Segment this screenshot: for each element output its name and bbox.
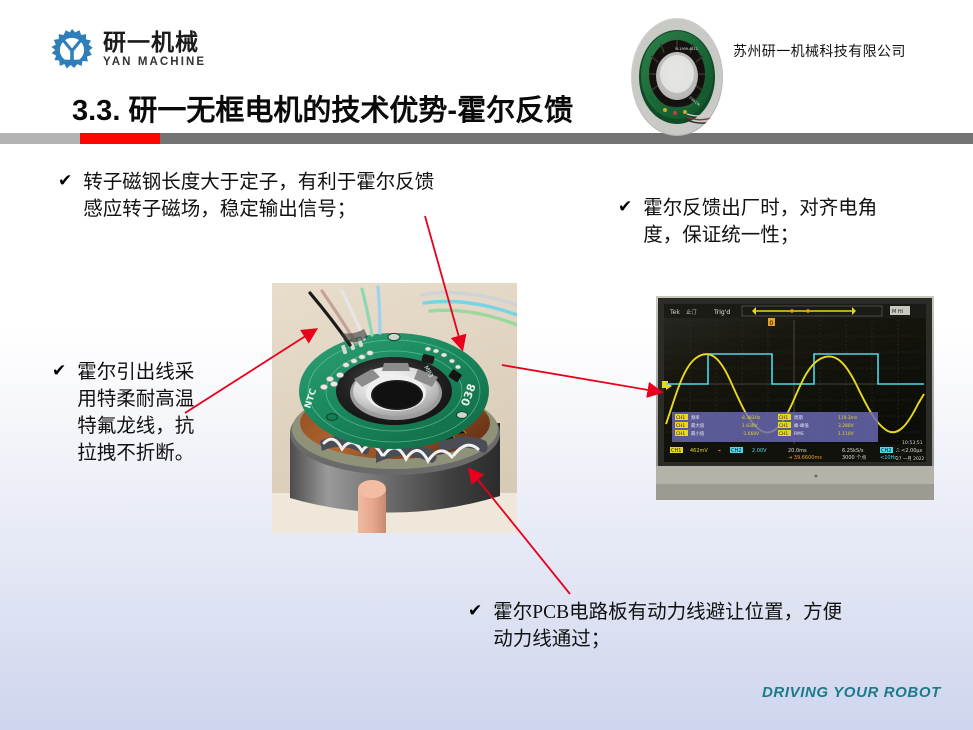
logo-chinese-name: 研一机械 — [103, 31, 206, 54]
svg-text:CH1: CH1 — [671, 448, 681, 454]
svg-text:119.3ms: 119.3ms — [838, 415, 858, 421]
hall-pcb-motor-photo: NTC 038 MP3 — [272, 283, 517, 533]
bullet-text: 转子磁钢长度大于定子，有利于霍尔反馈 感应转子磁场，稳定输出信号； — [83, 170, 434, 224]
bullet-item-rotor-magnet: ✔ 转子磁钢长度大于定子，有利于霍尔反馈 感应转子磁场，稳定输出信号； — [58, 170, 578, 224]
svg-text:Trig'd: Trig'd — [713, 309, 730, 316]
oscilloscope-photo: Tek 止汀 Trig'd M Hi — [656, 296, 934, 500]
svg-text:0: 0 — [769, 320, 773, 327]
svg-text:CH1: CH1 — [779, 415, 788, 421]
header-divider-bar — [0, 133, 973, 144]
svg-text:最大值: 最大值 — [691, 422, 705, 429]
slide-title: 3.3. 研一无框电机的技术优势-霍尔反馈 — [72, 87, 573, 129]
bullet-item-factory-alignment: ✔ 霍尔反馈出厂时，对齐电角 度，保证统一性； — [618, 196, 958, 250]
svg-text:M Hi: M Hi — [892, 309, 903, 315]
svg-text:1.110V: 1.110V — [838, 431, 854, 437]
svg-text:2.00V: 2.00V — [752, 448, 767, 454]
slide-canvas: 研一机械 YAN MACHINE 苏州研一机械科技有限公司 3.3. 研一无框电… — [0, 0, 973, 730]
check-mark-icon: ✔ — [468, 600, 482, 623]
footer-tagline: DRIVING YOUR ROBOT — [762, 684, 941, 701]
divider-segment-dark-gray — [160, 133, 973, 144]
header-motor-ring-photo: YI-1909-4812 038 CN — [631, 18, 723, 136]
svg-text:<10Hz: <10Hz — [880, 455, 897, 461]
svg-text:⇥ 39.6600ms: ⇥ 39.6600ms — [788, 455, 822, 461]
check-mark-icon: ✔ — [52, 360, 66, 383]
svg-text:CH1: CH1 — [779, 431, 788, 437]
svg-text:峰-峰值: 峰-峰值 — [794, 422, 809, 429]
bullet-text: 霍尔PCB电路板有动力线避让位置，方便 动力线通过； — [493, 600, 842, 654]
svg-text:10:53:51: 10:53:51 — [902, 440, 923, 446]
bullet-text: 霍尔引出线采 用特柔耐高温 特氟龙线，抗 拉拽不折断。 — [77, 360, 194, 468]
svg-text:3.280V: 3.280V — [838, 423, 854, 429]
svg-text:止汀: 止汀 — [686, 308, 697, 316]
check-mark-icon: ✔ — [618, 196, 632, 219]
svg-text:⌁: ⌁ — [718, 448, 721, 454]
svg-text:RMS: RMS — [794, 431, 804, 437]
svg-text:CH2: CH2 — [881, 448, 891, 454]
svg-text:6.25kS/s: 6.25kS/s — [842, 448, 864, 454]
bullet-item-lead-wire: ✔ 霍尔引出线采 用特柔耐高温 特氟龙线，抗 拉拽不折断。 — [52, 360, 282, 468]
svg-text:周期: 周期 — [794, 415, 803, 421]
svg-text:CH1: CH1 — [676, 423, 685, 429]
company-logo: 研一机械 YAN MACHINE — [50, 28, 206, 72]
bullet-text: 霍尔反馈出厂时，对齐电角 度，保证统一性； — [643, 196, 877, 250]
gear-logo-icon — [50, 28, 94, 72]
divider-segment-light-gray — [0, 133, 80, 144]
svg-text:最小值: 最小值 — [691, 430, 705, 437]
bullet-item-pcb-clearance: ✔ 霍尔PCB电路板有动力线避让位置，方便 动力线通过； — [468, 600, 948, 654]
svg-text:Tek: Tek — [669, 309, 680, 316]
company-name-text: 苏州研一机械科技有限公司 — [733, 41, 906, 61]
svg-text:CH2: CH2 — [731, 448, 741, 454]
logo-wordmark: 研一机械 YAN MACHINE — [103, 31, 206, 69]
svg-text:27 一月 2022: 27 一月 2022 — [896, 456, 925, 462]
svg-text:CH1: CH1 — [676, 415, 685, 421]
svg-text:⎍ <2.00μs: ⎍ <2.00μs — [896, 448, 923, 454]
svg-text:20.0ms: 20.0ms — [788, 448, 807, 454]
divider-segment-red — [80, 133, 160, 144]
svg-text:3000 个点: 3000 个点 — [842, 455, 866, 461]
slide-header: 研一机械 YAN MACHINE 苏州研一机械科技有限公司 3.3. 研一无框电… — [0, 0, 973, 134]
svg-text:462mV: 462mV — [690, 448, 708, 454]
svg-text:频率: 频率 — [691, 414, 700, 421]
svg-text:8.383Hz: 8.383Hz — [742, 415, 761, 421]
svg-text:CH1: CH1 — [779, 423, 788, 429]
arrow-to-oscilloscope — [502, 365, 660, 392]
svg-text:CH1: CH1 — [676, 431, 685, 437]
svg-text:-1.660V: -1.660V — [742, 431, 759, 437]
check-mark-icon: ✔ — [58, 170, 72, 193]
logo-english-name: YAN MACHINE — [103, 57, 206, 69]
svg-text:YI-1909-4812: YI-1909-4812 — [675, 47, 698, 51]
svg-text:1.630V: 1.630V — [742, 423, 758, 429]
